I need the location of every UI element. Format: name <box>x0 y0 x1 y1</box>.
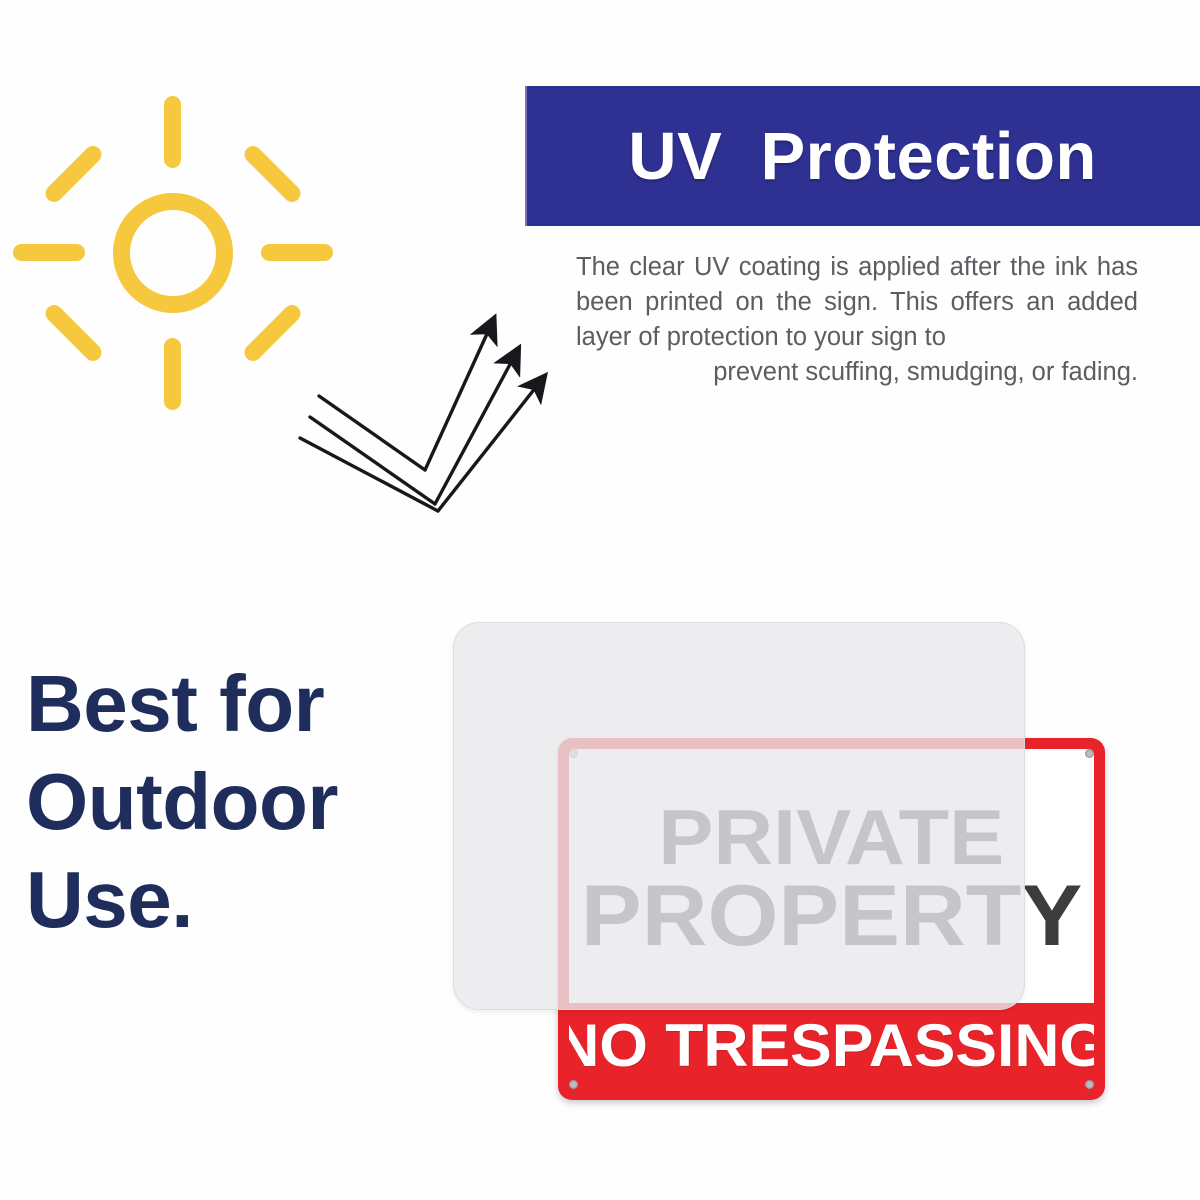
outdoor-heading-line-2: Outdoor <box>26 753 426 851</box>
sign-text-no-trespassing: NO TRESPASSING <box>569 1016 1094 1076</box>
sign-bottom-band: NO TRESPASSING <box>569 1003 1094 1089</box>
uv-reflection-arrows-icon <box>278 292 578 542</box>
outdoor-heading-line-3: Use. <box>26 851 426 949</box>
sign-face: PRIVATE PROPERTY NO TRESPASSING <box>569 749 1094 1089</box>
sun-ray-southwest <box>42 302 105 365</box>
screw-hole-bottom-left <box>569 1080 578 1089</box>
uv-description-last-line: prevent scuffing, smudging, or fading. <box>576 355 1138 390</box>
sun-ray-northwest <box>42 143 105 206</box>
incoming-ray-2 <box>310 417 435 504</box>
poster-stage: UV Protection The clear UV coating is ap… <box>0 0 1200 1200</box>
uv-description-main: The clear UV coating is applied after th… <box>576 253 1138 351</box>
sun-ray-east <box>261 244 333 261</box>
uv-protection-banner: UV Protection <box>525 86 1200 226</box>
sign-text-property: PROPERTY <box>581 877 1082 956</box>
outdoor-use-heading: Best for Outdoor Use. <box>26 655 426 949</box>
sun-ray-northeast <box>241 143 304 206</box>
sign-text-private: PRIVATE <box>658 802 1004 874</box>
screw-hole-bottom-right <box>1085 1080 1094 1089</box>
sign-top-panel: PRIVATE PROPERTY <box>569 749 1094 1003</box>
sun-core-ring <box>113 193 233 313</box>
screw-hole-top-right <box>1085 749 1094 758</box>
screw-hole-top-left <box>569 749 578 758</box>
outdoor-heading-line-1: Best for <box>26 655 426 753</box>
uv-protection-title: UV Protection <box>628 123 1097 190</box>
reflected-ray-1 <box>425 325 491 470</box>
sun-ray-west <box>13 244 85 261</box>
product-photo: PRIVATE PROPERTY NO TRESPASSING <box>430 600 1150 1140</box>
incoming-ray-3 <box>300 438 438 511</box>
sun-ray-south <box>164 338 181 410</box>
uv-protection-description: The clear UV coating is applied after th… <box>576 250 1138 390</box>
sun-ray-north <box>164 96 181 168</box>
private-property-sign: PRIVATE PROPERTY NO TRESPASSING <box>558 738 1105 1100</box>
